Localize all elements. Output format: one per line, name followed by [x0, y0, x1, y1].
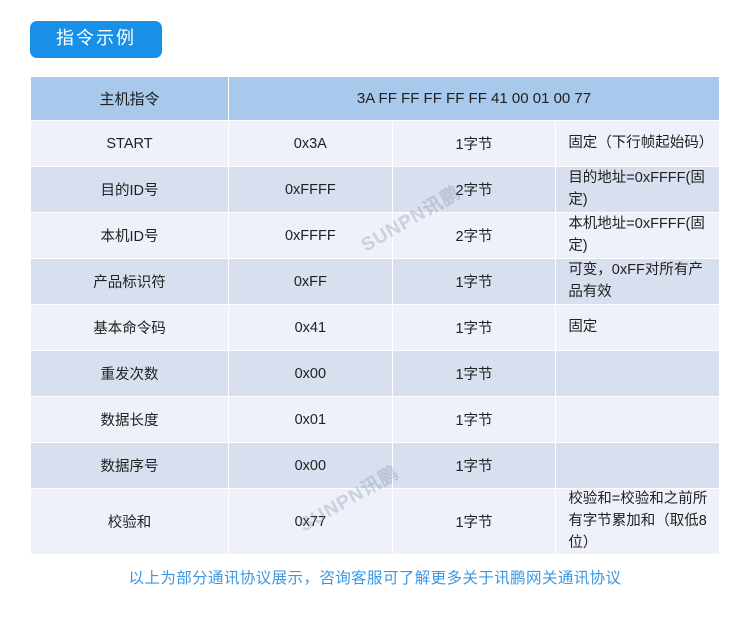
row-name: 产品标识符 [31, 259, 228, 304]
row-description [556, 397, 719, 442]
row-description: 本机地址=0xFFFF(固定) [556, 213, 719, 258]
row-name: START [31, 121, 228, 166]
row-value: 0x01 [229, 397, 392, 442]
row-value: 0xFFFF [229, 167, 392, 212]
header-name-cell: 主机指令 [31, 77, 228, 120]
row-value: 0x41 [229, 305, 392, 350]
row-length: 1字节 [393, 443, 556, 488]
protocol-table: 主机指令 3A FF FF FF FF FF 41 00 01 00 77 ST… [30, 76, 720, 555]
row-name: 本机ID号 [31, 213, 228, 258]
table-row: 基本命令码 0x41 1字节 固定 [31, 305, 719, 350]
row-length: 2字节 [393, 167, 556, 212]
section-title-label: 指令示例 [30, 21, 162, 58]
row-length: 1字节 [393, 259, 556, 304]
row-name: 数据长度 [31, 397, 228, 442]
footer-note: 以上为部分通讯协议展示，咨询客服可了解更多关于讯鹏网关通讯协议 [0, 566, 750, 588]
row-description: 校验和=校验和之前所有字节累加和（取低8位） [556, 489, 719, 554]
section-title-badge: 指令示例 [30, 21, 162, 58]
row-length: 1字节 [393, 489, 556, 554]
row-name: 重发次数 [31, 351, 228, 396]
row-description: 可变，0xFF对所有产品有效 [556, 259, 719, 304]
table-row: 产品标识符 0xFF 1字节 可变，0xFF对所有产品有效 [31, 259, 719, 304]
table-row: 数据序号 0x00 1字节 [31, 443, 719, 488]
row-description [556, 351, 719, 396]
table-row: 本机ID号 0xFFFF 2字节 本机地址=0xFFFF(固定) [31, 213, 719, 258]
row-length: 1字节 [393, 305, 556, 350]
row-description: 固定 [556, 305, 719, 350]
table-header-row: 主机指令 3A FF FF FF FF FF 41 00 01 00 77 [31, 77, 719, 120]
row-name: 基本命令码 [31, 305, 228, 350]
row-length: 1字节 [393, 397, 556, 442]
table-row: 重发次数 0x00 1字节 [31, 351, 719, 396]
header-command-cell: 3A FF FF FF FF FF 41 00 01 00 77 [229, 77, 719, 120]
table-row: 校验和 0x77 1字节 校验和=校验和之前所有字节累加和（取低8位） [31, 489, 719, 554]
row-name: 目的ID号 [31, 167, 228, 212]
row-value: 0x3A [229, 121, 392, 166]
row-description: 固定（下行帧起始码） [556, 121, 719, 166]
row-length: 1字节 [393, 351, 556, 396]
row-description: 目的地址=0xFFFF(固定) [556, 167, 719, 212]
row-value: 0x77 [229, 489, 392, 554]
row-length: 2字节 [393, 213, 556, 258]
row-length: 1字节 [393, 121, 556, 166]
row-description [556, 443, 719, 488]
table-row: 数据长度 0x01 1字节 [31, 397, 719, 442]
row-name: 数据序号 [31, 443, 228, 488]
table-row: START 0x3A 1字节 固定（下行帧起始码） [31, 121, 719, 166]
protocol-table-body: 主机指令 3A FF FF FF FF FF 41 00 01 00 77 ST… [31, 77, 719, 554]
row-value: 0x00 [229, 443, 392, 488]
row-value: 0xFFFF [229, 213, 392, 258]
row-name: 校验和 [31, 489, 228, 554]
row-value: 0xFF [229, 259, 392, 304]
row-value: 0x00 [229, 351, 392, 396]
table-row: 目的ID号 0xFFFF 2字节 目的地址=0xFFFF(固定) [31, 167, 719, 212]
